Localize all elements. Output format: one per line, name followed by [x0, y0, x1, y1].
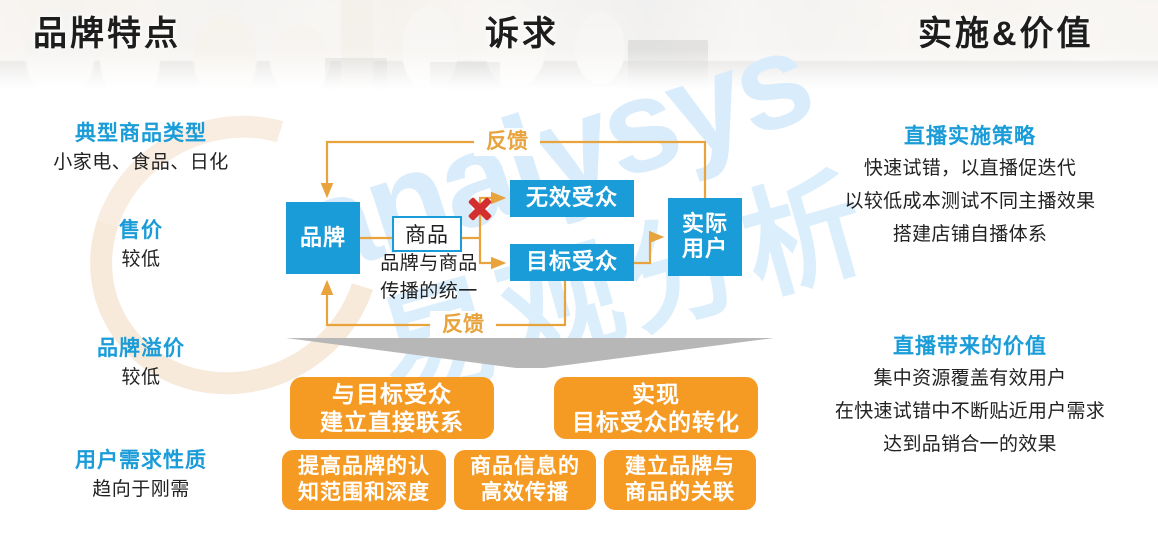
node-brand[interactable]: 品牌 [286, 202, 360, 274]
node-actual-user-line-1: 实际 [682, 211, 728, 236]
node-target-audience[interactable]: 目标受众 [510, 244, 634, 281]
outcome-pill-line-1: 提高品牌的认 [298, 454, 430, 480]
red-x-icon [465, 194, 495, 224]
feedback-label-top: 反馈 [474, 128, 540, 156]
left-group-heading: 用户需求性质 [0, 447, 282, 475]
center-diagram: 反馈 反馈 品牌 商品 品牌与商品 传播的统一 无效受众 目标受众 实际 用户 [282, 92, 782, 533]
outcome-pill-secondary-2[interactable]: 商品信息的 高效传播 [454, 450, 596, 510]
left-group-heading: 典型商品类型 [0, 120, 282, 148]
left-group-brand-premium: 品牌溢价 较低 [0, 335, 282, 393]
right-group-livestream-strategy: 直播实施策略 快速试错，以直播促迭代 以较低成本测试不同主播效果 搭建店铺自播体… [782, 122, 1158, 251]
left-column: 典型商品类型 小家电、食品、日化 售价 较低 品牌溢价 较低 用户需求性质 趋向… [0, 92, 282, 533]
node-actual-user-line-2: 用户 [682, 236, 728, 261]
outcome-pill-line-1: 商品信息的 [470, 454, 580, 480]
left-group-body: 较低 [0, 363, 282, 393]
outcome-pill-line-2: 商品的关联 [625, 480, 735, 506]
outcome-pill-secondary-1[interactable]: 提高品牌的认 知范围和深度 [282, 450, 446, 510]
left-group-price: 售价 较低 [0, 217, 282, 275]
feedback-label-bottom: 反馈 [430, 311, 496, 339]
outcome-pill-line-2: 建立直接联系 [320, 408, 464, 436]
left-group-body: 趋向于刚需 [0, 475, 282, 505]
left-group-heading: 售价 [0, 217, 282, 245]
header-title-implementation-value: 实施&价值 [918, 6, 1094, 55]
outcome-pill-line-1: 与目标受众 [320, 380, 464, 408]
right-group-line-1: 快速试错，以直播促迭代 [782, 152, 1158, 185]
outcome-pill-secondary-3[interactable]: 建立品牌与 商品的关联 [604, 450, 756, 510]
down-chevron-divider [286, 338, 774, 368]
right-group-line-3: 搭建店铺自播体系 [782, 218, 1158, 251]
diagram-caption-line-1: 品牌与商品 [364, 250, 494, 278]
header-titles: 品牌特点 诉求 实施&价值 [0, 0, 1158, 90]
diagram-caption-line-2: 传播的统一 [364, 278, 494, 306]
outcome-pill-line-2: 高效传播 [470, 480, 580, 506]
left-group-product-type: 典型商品类型 小家电、食品、日化 [0, 120, 282, 178]
slide-root: 品牌特点 诉求 实施&价值 analysys 易观分析 典型商品类型 小家电、食… [0, 0, 1158, 533]
header-band: 品牌特点 诉求 实施&价值 [0, 0, 1158, 90]
outcome-pill-line-1: 建立品牌与 [625, 454, 735, 480]
node-goods[interactable]: 商品 [392, 216, 462, 252]
right-column: 直播实施策略 快速试错，以直播促迭代 以较低成本测试不同主播效果 搭建店铺自播体… [782, 92, 1158, 533]
left-group-body: 小家电、食品、日化 [0, 148, 282, 178]
outcome-pill-primary-1[interactable]: 与目标受众 建立直接联系 [290, 377, 494, 439]
left-group-body: 较低 [0, 245, 282, 275]
outcome-pill-line-1: 实现 [572, 380, 740, 408]
right-group-heading: 直播实施策略 [782, 122, 1158, 152]
right-group-heading: 直播带来的价值 [782, 332, 1158, 362]
right-group-livestream-value: 直播带来的价值 集中资源覆盖有效用户 在快速试错中不断贴近用户需求 达到品销合一… [782, 332, 1158, 461]
header-title-brand-traits: 品牌特点 [33, 6, 181, 55]
left-group-heading: 品牌溢价 [0, 335, 282, 363]
right-group-line-3: 达到品销合一的效果 [782, 428, 1158, 461]
node-actual-user[interactable]: 实际 用户 [668, 198, 742, 276]
outcome-pill-line-2: 目标受众的转化 [572, 408, 740, 436]
header-title-appeal: 诉求 [485, 6, 559, 55]
right-group-line-2: 以较低成本测试不同主播效果 [782, 185, 1158, 218]
right-group-line-2: 在快速试错中不断贴近用户需求 [782, 395, 1158, 428]
left-group-demand-nature: 用户需求性质 趋向于刚需 [0, 447, 282, 505]
node-invalid-audience[interactable]: 无效受众 [510, 180, 634, 217]
right-group-line-1: 集中资源覆盖有效用户 [782, 362, 1158, 395]
diagram-caption: 品牌与商品 传播的统一 [364, 250, 494, 306]
outcome-pill-primary-2[interactable]: 实现 目标受众的转化 [554, 377, 758, 439]
outcome-pill-line-2: 知范围和深度 [298, 480, 430, 506]
